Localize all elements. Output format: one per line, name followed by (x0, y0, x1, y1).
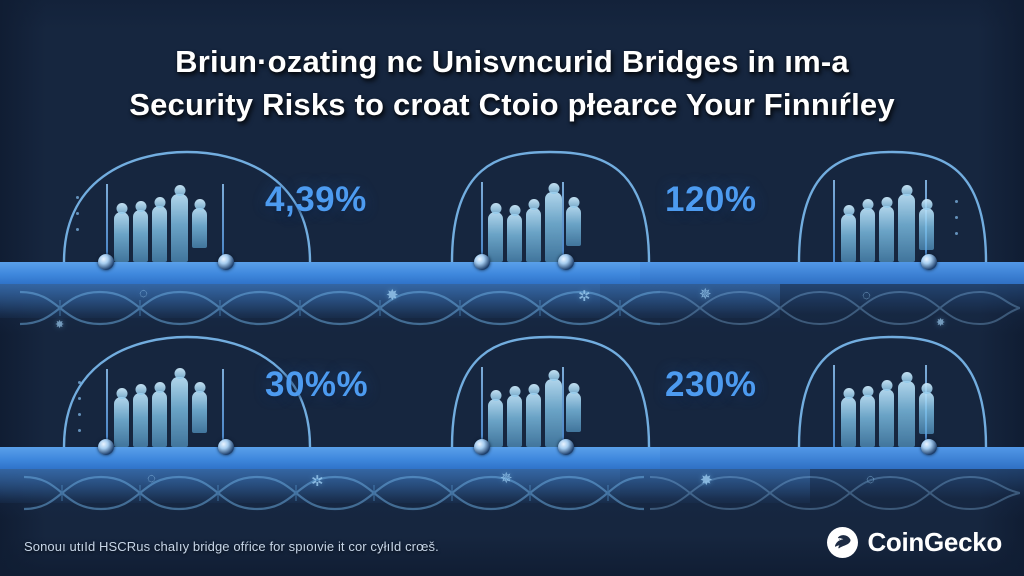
atom-icon: ✵ (699, 287, 712, 302)
percent-label-1: 4,39% (265, 180, 367, 220)
tick-marks (76, 196, 79, 244)
node-icon: ✲ (578, 289, 591, 304)
bridge-pier (98, 439, 114, 455)
figure-silhouette (841, 397, 856, 447)
bridge-row-bottom: 30%% 230% ◌ (0, 335, 1024, 520)
figure-silhouette (898, 194, 915, 262)
figure-crowd (488, 192, 581, 262)
spark-icon: ✸ (936, 318, 945, 329)
figure-silhouette (860, 395, 875, 447)
helix-pattern-icon (20, 286, 660, 330)
globe-icon: ◌ (139, 286, 148, 301)
suspension-cable (481, 182, 483, 262)
figure-silhouette (879, 389, 894, 447)
bridge-pier (921, 254, 937, 270)
figure-silhouette (114, 212, 129, 262)
figure-silhouette (152, 391, 167, 447)
suspension-cable (833, 365, 835, 447)
figure-crowd (841, 381, 934, 447)
bridge-pier (98, 254, 114, 270)
figure-silhouette (860, 208, 875, 262)
figure-silhouette (879, 206, 894, 262)
figure-crowd (114, 377, 207, 447)
footer-caption: Sonouı utıId HSCRus chaIıy bridge ofŕice… (24, 539, 439, 554)
figure-silhouette (133, 393, 148, 447)
figure-silhouette (566, 206, 581, 246)
tick-marks (78, 381, 81, 445)
coingecko-logo[interactable]: CoinGecko (827, 527, 1002, 558)
gecko-icon (827, 527, 858, 558)
figure-crowd (488, 379, 581, 447)
suspension-cable (481, 367, 483, 447)
suspension-cable (222, 369, 224, 447)
figure-silhouette (919, 208, 934, 250)
figure-silhouette (526, 393, 541, 447)
atom-icon: ✵ (500, 471, 513, 486)
suspension-cable (106, 369, 108, 447)
bridge-pier (921, 439, 937, 455)
spark-icon: ✸ (386, 288, 399, 303)
suspension-cable (222, 184, 224, 262)
tick-marks (955, 200, 958, 248)
figure-silhouette (545, 379, 562, 447)
bridge-pier (218, 254, 234, 270)
figure-silhouette (545, 192, 562, 262)
figure-crowd (114, 194, 207, 262)
figure-silhouette (526, 208, 541, 262)
bridge-row-top: 4,39% 120% (0, 150, 1024, 335)
helix-pattern-icon (660, 286, 1020, 330)
figure-silhouette (152, 206, 167, 262)
figure-silhouette (171, 194, 188, 262)
percent-label-3: 30%% (265, 365, 368, 405)
bridge-deck-shade-bottom (660, 447, 1024, 469)
bridge-deck-shade-top (640, 262, 1024, 284)
figure-silhouette (171, 377, 188, 447)
percent-label-4: 230% (665, 365, 757, 405)
figure-silhouette (488, 212, 503, 262)
bridge-pier (218, 439, 234, 455)
title-line-2: Security Risks to croat Ctoio płearce Yo… (0, 83, 1024, 126)
bridge-pier (474, 254, 490, 270)
spark-icon: ✸ (55, 320, 64, 331)
figure-silhouette (898, 381, 915, 447)
figure-silhouette (507, 395, 522, 447)
bridge-pier (558, 254, 574, 270)
helix-pattern-icon (24, 471, 644, 515)
percent-label-2: 120% (665, 180, 757, 220)
figure-silhouette (841, 214, 856, 262)
figure-silhouette (114, 397, 129, 447)
suspension-cable (106, 184, 108, 262)
node-icon: ✲ (311, 474, 324, 489)
title-line-1: Briun·ozating nc Unisvncurid Bridges in … (0, 40, 1024, 83)
bridge-pier (474, 439, 490, 455)
logo-text: CoinGecko (867, 527, 1002, 558)
suspension-cable (833, 180, 835, 262)
figure-silhouette (192, 391, 207, 433)
page-title: Briun·ozating nc Unisvncurid Bridges in … (0, 40, 1024, 126)
figure-silhouette (192, 208, 207, 248)
figure-silhouette (919, 392, 934, 434)
globe-icon: ◌ (862, 288, 871, 303)
figure-crowd (841, 194, 934, 262)
figure-silhouette (566, 392, 581, 432)
vignette-top (0, 0, 1024, 30)
figure-silhouette (133, 210, 148, 262)
globe-icon: ◌ (147, 471, 156, 486)
globe-icon: ◌ (866, 472, 875, 487)
figure-silhouette (488, 399, 503, 447)
figure-silhouette (507, 214, 522, 262)
spark-icon: ✸ (700, 473, 713, 488)
bridge-pier (558, 439, 574, 455)
